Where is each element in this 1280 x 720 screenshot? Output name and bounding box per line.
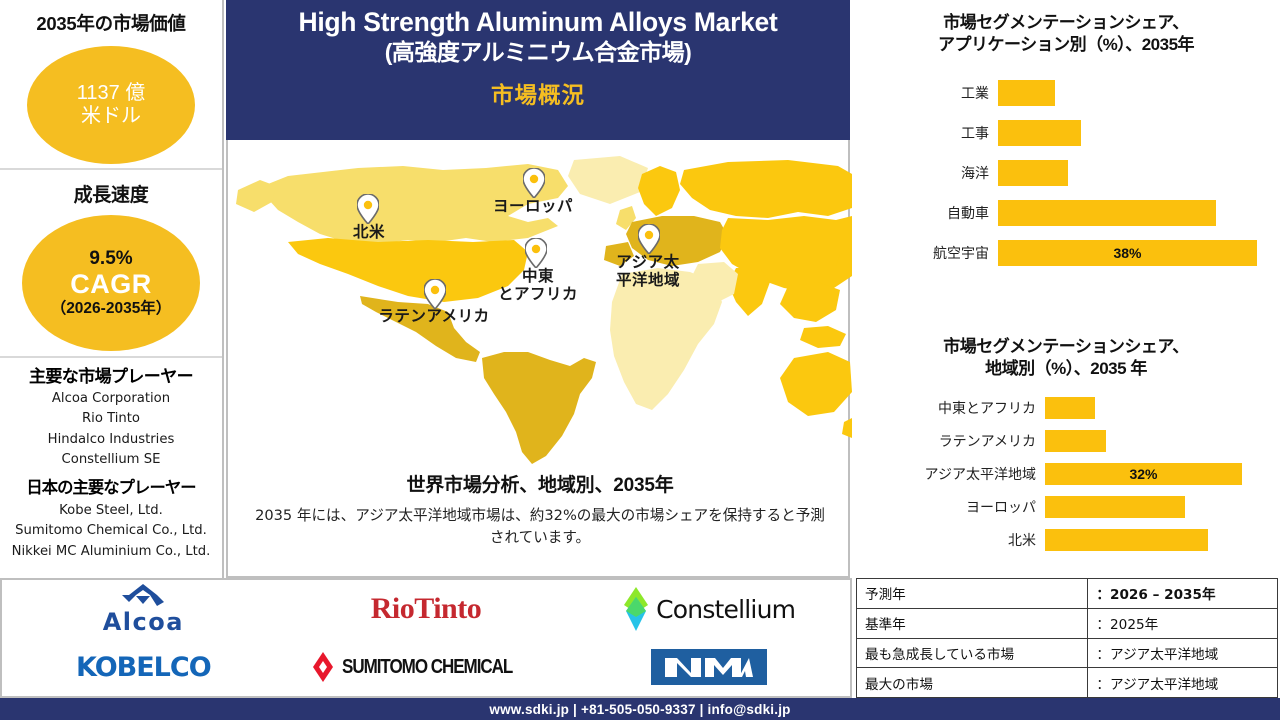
map-shape-new-zealand <box>842 418 852 438</box>
map-pin-middle-east-africa <box>525 238 547 268</box>
bar-label: アジア太平洋地域 <box>852 464 1045 484</box>
map-caption-title: 世界市場分析、地域別、2035年 <box>228 470 852 497</box>
nma-mark-icon <box>661 653 757 681</box>
key-players-block: 主要な市場プレーヤー Alcoa Corporation Rio Tinto H… <box>0 358 222 471</box>
map-shape-australia <box>780 352 852 416</box>
growth-rate-value: 9.5% <box>89 248 132 270</box>
summary-table: 予測年 ：2026 – 2035年 基準年 ：2025年 最も急成長している市場… <box>856 578 1278 698</box>
bar-label: 工業 <box>852 83 998 103</box>
bar-north-america[interactable] <box>1045 529 1208 551</box>
logo-alcoa-text: Alcoa <box>103 608 184 636</box>
bar-label: ヨーロッパ <box>852 497 1045 517</box>
table-cell-value: ：アジア太平洋地域 <box>1088 638 1278 668</box>
map-label-north-america: 北米 <box>334 224 404 242</box>
hero-header: High Strength Aluminum Alloys Market (高強… <box>226 0 850 140</box>
bar-middle-east-africa[interactable] <box>1045 397 1095 419</box>
table-row: 基準年 ：2025年 <box>857 608 1278 638</box>
map-panel: 北米 ヨーロッパ 中東 とアフリカ アジア太 平洋地域 ラテンアメリカ 世界市場… <box>226 140 850 578</box>
table-cell-key: 基準年 <box>857 608 1088 638</box>
logo-sumitomo-text: SUMITOMO CHEMICAL <box>342 656 512 679</box>
page-title-jp: (高強度アルミニウム合金市場) <box>385 38 692 67</box>
nma-box-icon <box>651 649 767 685</box>
growth-rate-block: 成長速度 9.5% CAGR （2026-2035年） <box>0 170 222 356</box>
map-label-text: 中東 とアフリカ <box>498 268 578 303</box>
bar-label: ラテンアメリカ <box>852 431 1045 451</box>
table-cell-key: 最も急成長している市場 <box>857 638 1088 668</box>
list-item: Constellium SE <box>0 450 222 470</box>
list-item: Hindalco Industries <box>0 430 222 450</box>
map-shape-alaska <box>236 180 276 212</box>
list-item: Kobe Steel, Ltd. <box>0 501 222 521</box>
application-chart: 市場セグメンテーションシェア、 アプリケーション別（%）、2035年 工業 工事 <box>852 12 1280 273</box>
bar-construction[interactable] <box>998 120 1081 146</box>
bar-label: 工事 <box>852 123 998 143</box>
logo-sumitomo: SUMITOMO CHEMICAL <box>310 652 542 682</box>
bar-row: アジア太平洋地域 32% <box>852 457 1280 490</box>
chart-title-line1: 市場セグメンテーションシェア、 <box>866 336 1266 358</box>
list-item: Nikkei MC Aluminium Co., Ltd. <box>0 542 222 562</box>
growth-rate-period: （2026-2035年） <box>51 300 172 318</box>
bar-label: 海洋 <box>852 163 998 183</box>
table-cell-value: ：2026 – 2035年 <box>1088 579 1278 609</box>
bar-row: 海洋 <box>852 153 1280 193</box>
region-bars: 中東とアフリカ ラテンアメリカ アジア太平洋地域 32% <box>852 391 1280 556</box>
bar-row: 工事 <box>852 113 1280 153</box>
map-label-asia-pacific: アジア太 平洋地域 <box>588 254 708 290</box>
region-chart: 市場セグメンテーションシェア、 地域別（%）、2035 年 中東とアフリカ ラテ… <box>852 336 1280 556</box>
map-shape-scandinavia <box>638 166 680 216</box>
bar-value: 32% <box>1129 466 1157 482</box>
bar-asia-pacific[interactable]: 32% <box>1045 463 1242 485</box>
key-players-list: Alcoa Corporation Rio Tinto Hindalco Ind… <box>0 389 222 471</box>
map-pin-asia-pacific <box>638 224 660 254</box>
list-item: Sumitomo Chemical Co., Ltd. <box>0 521 222 541</box>
table-cell-value: ：2025年 <box>1088 608 1278 638</box>
map-label-middle-east-africa: 中東 とアフリカ <box>476 268 600 304</box>
list-item: Rio Tinto <box>0 409 222 429</box>
chart-title-line1: 市場セグメンテーションシェア、 <box>870 12 1262 34</box>
logo-kobelco-text: KOBELCO <box>76 652 211 683</box>
map-shape-sea-islands <box>800 326 846 348</box>
bar-row: 航空宇宙 38% <box>852 233 1280 273</box>
map-shape-russia <box>680 160 852 218</box>
infographic-root: 2035年の市場価値 1137 億 米ドル 成長速度 9.5% CAGR （20… <box>0 0 1280 720</box>
map-shape-mexico-ca <box>360 296 480 362</box>
table-cell-key: 最大の市場 <box>857 668 1088 698</box>
bar-label: 航空宇宙 <box>852 243 998 263</box>
key-players-title: 主要な市場プレーヤー <box>0 362 222 387</box>
page-subtitle: 市場概況 <box>491 78 585 110</box>
list-item: Alcoa Corporation <box>0 389 222 409</box>
bar-latin-america[interactable] <box>1045 430 1106 452</box>
chart-title-line2: アプリケーション別（%）、2035年 <box>870 34 1262 56</box>
growth-rate-cagr: CAGR <box>70 269 152 300</box>
bar-row: 中東とアフリカ <box>852 391 1280 424</box>
bar-marine[interactable] <box>998 160 1068 186</box>
table-cell-key: 予測年 <box>857 579 1088 609</box>
logo-riotinto: RioTinto <box>371 592 481 626</box>
market-value-block: 2035年の市場価値 1137 億 米ドル <box>0 0 222 168</box>
map-label-latin-america: ラテンアメリカ <box>354 308 514 326</box>
japan-players-block: 日本の主要なプレーヤー Kobe Steel, Ltd. Sumitomo Ch… <box>0 471 222 562</box>
map-pin-north-america <box>357 194 379 224</box>
bar-row: 工業 <box>852 73 1280 113</box>
center-panel: High Strength Aluminum Alloys Market (高強… <box>226 0 850 578</box>
market-value-line1: 1137 億 <box>77 82 146 105</box>
map-label-europe: ヨーロッパ <box>468 198 598 216</box>
bar-industrial[interactable] <box>998 80 1055 106</box>
logo-riotinto-text: RioTinto <box>371 592 481 626</box>
bar-europe[interactable] <box>1045 496 1185 518</box>
bar-automotive[interactable] <box>998 200 1216 226</box>
logo-panel: Alcoa RioTinto Constellium KOBELCO SUMIT… <box>0 578 852 698</box>
bar-aerospace[interactable]: 38% <box>998 240 1257 266</box>
sumitomo-diamond-icon <box>310 652 336 682</box>
left-sidebar: 2035年の市場価値 1137 億 米ドル 成長速度 9.5% CAGR （20… <box>0 0 224 578</box>
bar-row: 北米 <box>852 523 1280 556</box>
bar-label: 中東とアフリカ <box>852 398 1045 418</box>
japan-players-title: 日本の主要なプレーヤー <box>0 474 222 498</box>
bar-row: 自動車 <box>852 193 1280 233</box>
growth-rate-title: 成長速度 <box>0 170 222 207</box>
logo-kobelco: KOBELCO <box>76 652 211 683</box>
bar-value: 38% <box>1113 245 1141 261</box>
table-row: 予測年 ：2026 – 2035年 <box>857 579 1278 609</box>
logo-constellium: Constellium <box>622 587 795 631</box>
map-label-text: アジア太 平洋地域 <box>616 254 680 289</box>
map-shape-south-america <box>482 352 596 464</box>
footer-contact-text[interactable]: www.sdki.jp | +81-505-050-9337 | info@sd… <box>489 702 790 717</box>
alcoa-mark-icon <box>113 582 173 608</box>
constellium-mark-icon <box>622 587 650 631</box>
bar-label: 北米 <box>852 530 1045 550</box>
growth-rate-ellipse: 9.5% CAGR （2026-2035年） <box>22 215 200 351</box>
map-pin-latin-america <box>424 279 446 309</box>
map-shape-greenland <box>568 156 648 204</box>
world-map: 北米 ヨーロッパ 中東 とアフリカ アジア太 平洋地域 ラテンアメリカ <box>228 146 852 468</box>
market-value-ellipse: 1137 億 米ドル <box>27 46 195 164</box>
bar-label: 自動車 <box>852 203 998 223</box>
region-chart-title: 市場セグメンテーションシェア、 地域別（%）、2035 年 <box>852 336 1280 380</box>
chart-title-line2: 地域別（%）、2035 年 <box>866 358 1266 380</box>
footer-bar: www.sdki.jp | +81-505-050-9337 | info@sd… <box>0 698 1280 720</box>
right-panel: 市場セグメンテーションシェア、 アプリケーション別（%）、2035年 工業 工事 <box>852 0 1280 578</box>
logo-alcoa: Alcoa <box>103 582 184 636</box>
market-value-title: 2035年の市場価値 <box>0 0 222 36</box>
page-title-en: High Strength Aluminum Alloys Market <box>299 7 778 38</box>
application-chart-title: 市場セグメンテーションシェア、 アプリケーション別（%）、2035年 <box>852 12 1280 56</box>
map-shape-china-sea <box>780 282 840 322</box>
table-cell-value: ：アジア太平洋地域 <box>1088 668 1278 698</box>
table-row: 最も急成長している市場 ：アジア太平洋地域 <box>857 638 1278 668</box>
bar-row: ヨーロッパ <box>852 490 1280 523</box>
logo-constellium-text: Constellium <box>656 595 795 624</box>
table-row: 最大の市場 ：アジア太平洋地域 <box>857 668 1278 698</box>
application-bars: 工業 工事 海洋 自動 <box>852 73 1280 273</box>
market-value-line2: 米ドル <box>81 105 141 128</box>
bar-row: ラテンアメリカ <box>852 424 1280 457</box>
logo-nma <box>651 649 767 685</box>
map-caption-body: 2035 年には、アジア太平洋地域市場は、約32%の最大の市場シェアを保持すると… <box>254 505 826 549</box>
japan-players-list: Kobe Steel, Ltd. Sumitomo Chemical Co., … <box>0 501 222 562</box>
map-pin-europe <box>523 168 545 198</box>
